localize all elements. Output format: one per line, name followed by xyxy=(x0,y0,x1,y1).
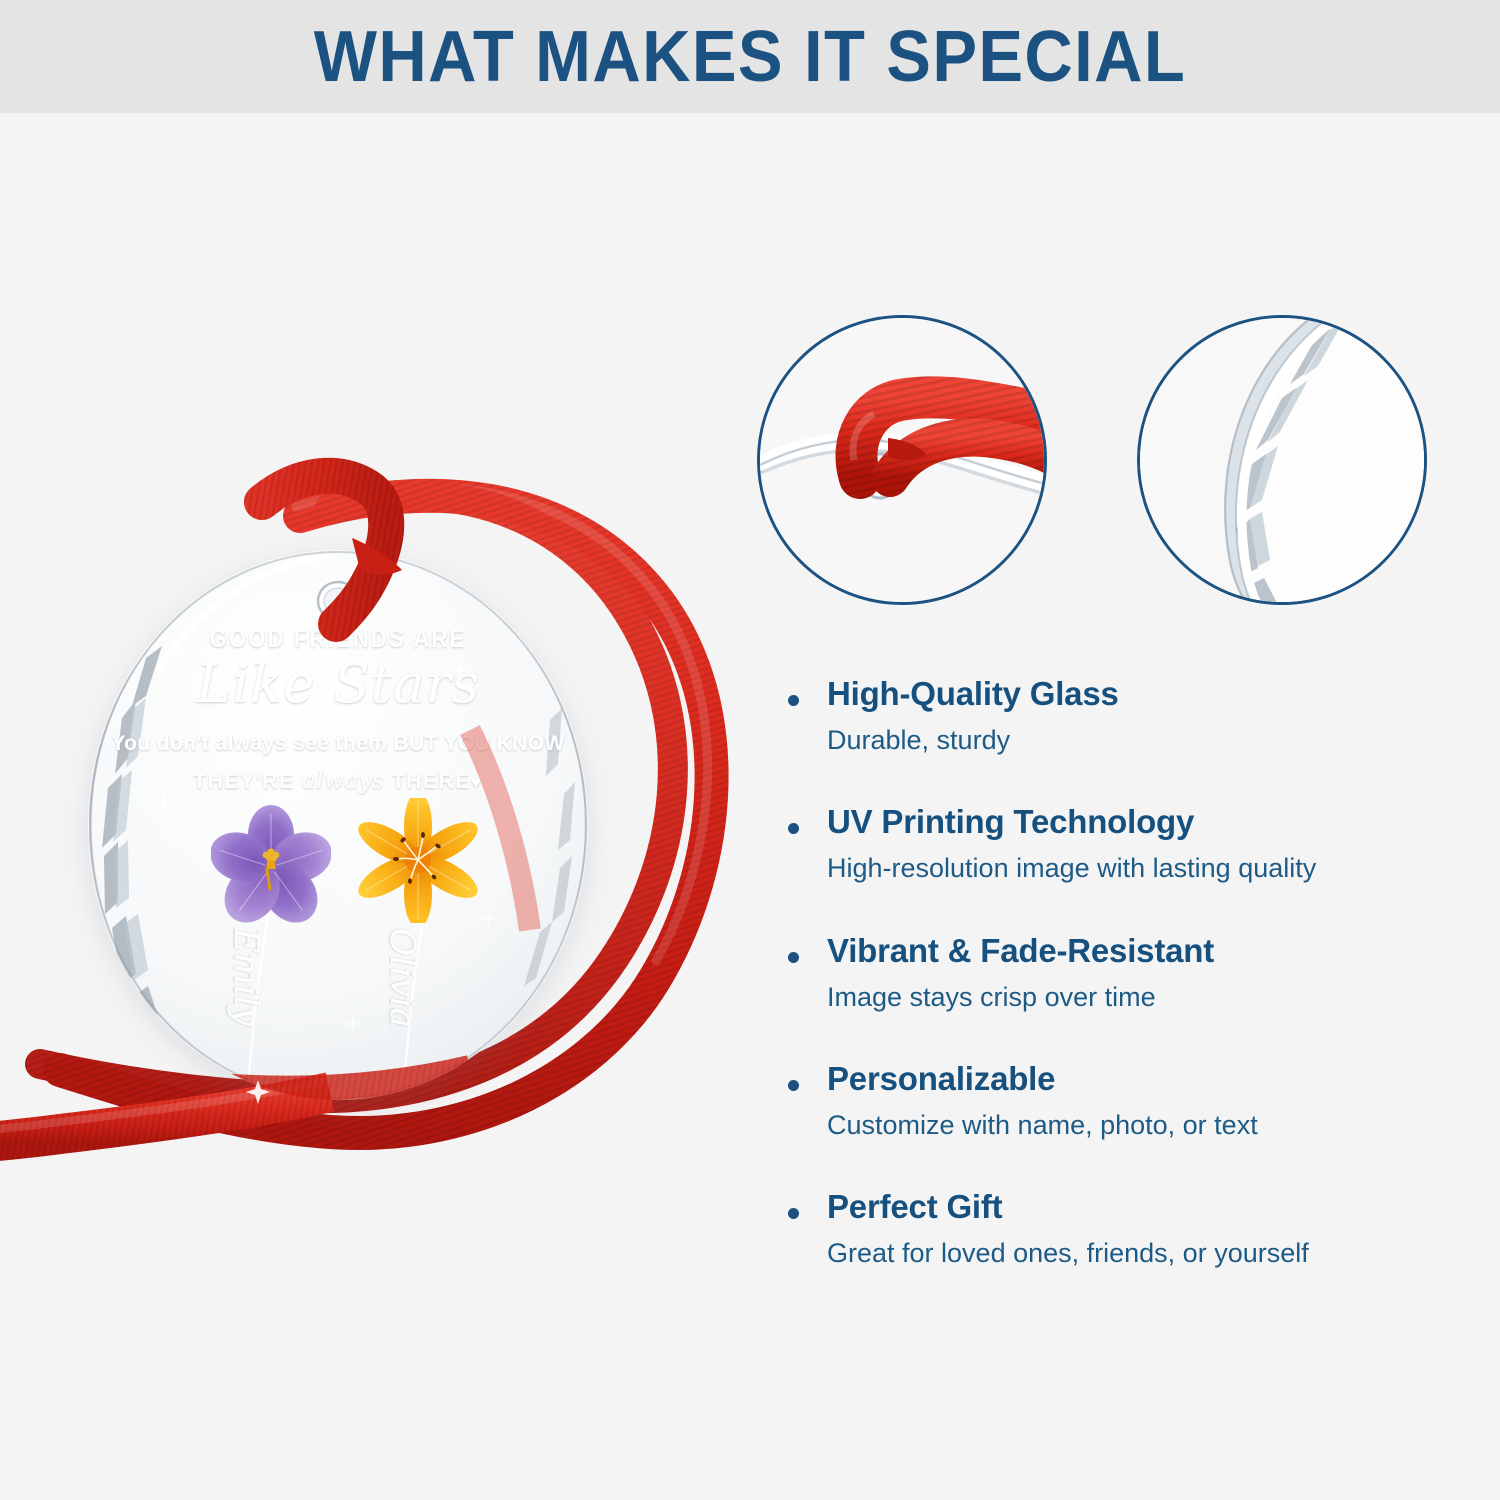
feature-item: Perfect Gift Great for loved ones, frien… xyxy=(780,1189,1480,1269)
feature-item: High-Quality Glass Durable, sturdy xyxy=(780,676,1480,756)
ribbon-hole-closeup xyxy=(760,318,1044,602)
red-ribbon-front xyxy=(0,430,740,1190)
feature-item: Vibrant & Fade-Resistant Image stays cri… xyxy=(780,933,1480,1013)
feature-item: Personalizable Customize with name, phot… xyxy=(780,1061,1480,1141)
product-image: GOOD FRIENDS ARE Like Stars You don't al… xyxy=(0,430,740,1190)
feature-description: Durable, sturdy xyxy=(827,724,1480,756)
beveled-edge-closeup xyxy=(1140,318,1424,602)
bullet-icon xyxy=(788,952,799,963)
callout-beveled-edge xyxy=(1137,315,1427,605)
feature-title: Perfect Gift xyxy=(827,1189,1480,1226)
feature-title: High-Quality Glass xyxy=(827,676,1480,713)
feature-description: High-resolution image with lasting quali… xyxy=(827,852,1480,884)
feature-title: Vibrant & Fade-Resistant xyxy=(827,933,1480,970)
infographic-page: WHAT MAKES IT SPECIAL xyxy=(0,0,1500,1500)
feature-description: Great for loved ones, friends, or yourse… xyxy=(827,1237,1480,1269)
bullet-icon xyxy=(788,695,799,706)
bullet-icon xyxy=(788,823,799,834)
feature-title: UV Printing Technology xyxy=(827,804,1480,841)
bullet-icon xyxy=(788,1080,799,1091)
feature-title: Personalizable xyxy=(827,1061,1480,1098)
feature-description: Customize with name, photo, or text xyxy=(827,1109,1480,1141)
feature-item: UV Printing Technology High-resolution i… xyxy=(780,804,1480,884)
callout-ribbon-hole xyxy=(757,315,1047,605)
page-title: WHAT MAKES IT SPECIAL xyxy=(53,0,1448,113)
feature-list: High-Quality Glass Durable, sturdy UV Pr… xyxy=(780,676,1480,1270)
bullet-icon xyxy=(788,1208,799,1219)
feature-description: Image stays crisp over time xyxy=(827,981,1480,1013)
